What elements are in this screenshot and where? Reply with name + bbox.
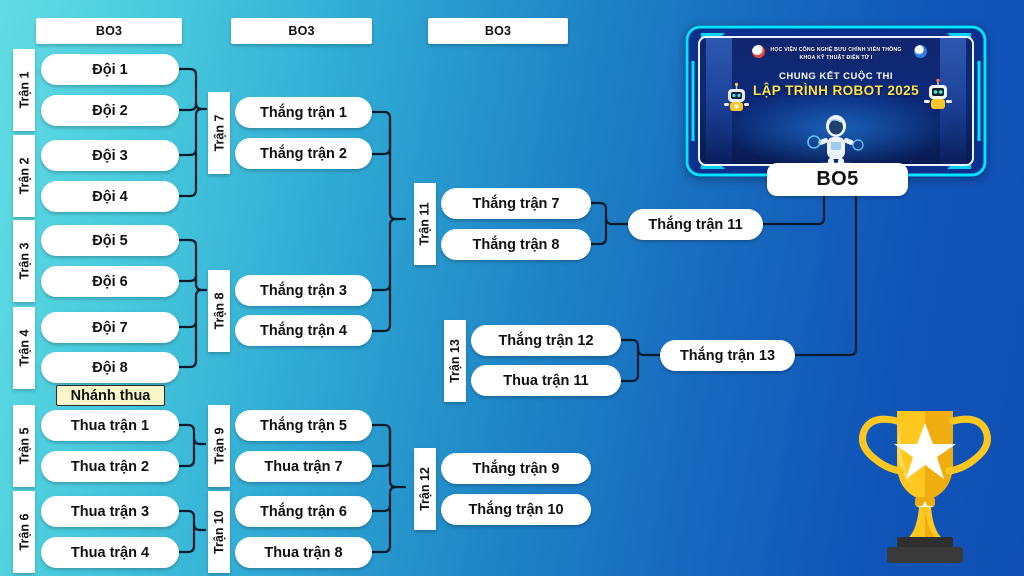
bracket-slot[interactable]: Thắng trận 8 — [441, 229, 591, 260]
bracket-slot[interactable]: Thắng trận 10 — [441, 494, 591, 525]
match-label-text: Trận 7 — [212, 115, 226, 152]
match-label-text: Trận 1 — [17, 72, 31, 109]
match-label-tran-7: Trận 7 — [208, 92, 230, 174]
match-label-tran-6: Trận 6 — [13, 491, 35, 573]
match-label-tran-11: Trận 11 — [414, 183, 436, 265]
match-label-text: Trận 8 — [212, 293, 226, 330]
bracket-slot[interactable]: Đội 4 — [41, 181, 179, 212]
bracket-slot[interactable]: Thắng trận 4 — [235, 315, 372, 346]
poster-inner: HỌC VIỆN CÔNG NGHỆ BƯU CHÍNH VIỄN THÔNG … — [698, 36, 974, 166]
poster-org-line-1: HỌC VIỆN CÔNG NGHỆ BƯU CHÍNH VIỄN THÔNG — [700, 47, 972, 53]
match-label-tran-9: Trận 9 — [208, 405, 230, 487]
bracket-slot[interactable]: Thắng trận 3 — [235, 275, 372, 306]
bracket-slot[interactable]: Đội 1 — [41, 54, 179, 85]
match-label-text: Trận 13 — [448, 339, 462, 383]
match-label-text: Trận 5 — [17, 428, 31, 465]
match-label-tran-2: Trận 2 — [13, 135, 35, 217]
bracket-slot[interactable]: Thắng trận 6 — [235, 496, 372, 527]
bracket-slot[interactable]: Đội 7 — [41, 312, 179, 343]
bracket-slot-winner-13[interactable]: Thắng trận 13 — [660, 340, 795, 371]
bracket-slot[interactable]: Thắng trận 9 — [441, 453, 591, 484]
bracket-slot[interactable]: Thua trận 1 — [41, 410, 179, 441]
match-label-tran-13: Trận 13 — [444, 320, 466, 402]
bracket-slot[interactable]: Thua trận 2 — [41, 451, 179, 482]
bracket-slot[interactable]: Thua trận 11 — [471, 365, 621, 396]
bracket-slot[interactable]: Đội 8 — [41, 352, 179, 383]
event-poster: HỌC VIỆN CÔNG NGHỆ BƯU CHÍNH VIỄN THÔNG … — [685, 25, 987, 177]
trophy-icon — [845, 397, 1005, 569]
poster-org-line-2: KHOA KỸ THUẬT ĐIỆN TỬ I — [700, 55, 972, 61]
bracket-slot[interactable]: Thắng trận 1 — [235, 97, 372, 128]
match-label-text: Trận 10 — [212, 510, 226, 554]
bracket-slot[interactable]: Thắng trận 2 — [235, 138, 372, 169]
bracket-canvas: BO3 BO3 BO3 Trận 1 Đội 1 Đội 2 Trận 2 Độ… — [0, 0, 1024, 576]
astronaut-hologram-icon — [776, 112, 896, 166]
round-header-bo3-2: BO3 — [231, 18, 372, 44]
match-label-text: Trận 12 — [418, 467, 432, 511]
match-label-tran-10: Trận 10 — [208, 491, 230, 573]
robot-mascot-right-icon — [922, 78, 954, 114]
match-label-tran-4: Trận 4 — [13, 307, 35, 389]
robot-mascot-left-icon — [722, 82, 752, 116]
match-label-tran-3: Trận 3 — [13, 220, 35, 302]
losers-bracket-tag: Nhánh thua — [56, 385, 165, 406]
match-label-text: Trận 11 — [418, 202, 432, 245]
bracket-slot[interactable]: Thắng trận 5 — [235, 410, 372, 441]
match-label-text: Trận 9 — [212, 428, 226, 465]
bracket-slot[interactable]: Thua trận 7 — [235, 451, 372, 482]
match-label-tran-8: Trận 8 — [208, 270, 230, 352]
bracket-slot[interactable]: Đội 2 — [41, 95, 179, 126]
bracket-slot[interactable]: Thua trận 4 — [41, 537, 179, 568]
bracket-slot-winner-11[interactable]: Thắng trận 11 — [628, 209, 763, 240]
round-header-bo3-3: BO3 — [428, 18, 568, 44]
bracket-slot[interactable]: Thua trận 8 — [235, 537, 372, 568]
round-header-bo3-1: BO3 — [36, 18, 182, 44]
match-label-tran-5: Trận 5 — [13, 405, 35, 487]
bracket-slot[interactable]: Thắng trận 7 — [441, 188, 591, 219]
bracket-slot[interactable]: Đội 5 — [41, 225, 179, 256]
bracket-slot[interactable]: Đội 6 — [41, 266, 179, 297]
bracket-slot[interactable]: Thắng trận 12 — [471, 325, 621, 356]
match-label-text: Trận 4 — [17, 330, 31, 367]
match-label-text: Trận 2 — [17, 158, 31, 195]
match-label-text: Trận 6 — [17, 514, 31, 551]
bracket-slot[interactable]: Đội 3 — [41, 140, 179, 171]
match-label-text: Trận 3 — [17, 243, 31, 280]
final-format-bo5: BO5 — [767, 163, 908, 196]
bracket-slot[interactable]: Thua trận 3 — [41, 496, 179, 527]
match-label-tran-12: Trận 12 — [414, 448, 436, 530]
match-label-tran-1: Trận 1 — [13, 49, 35, 131]
